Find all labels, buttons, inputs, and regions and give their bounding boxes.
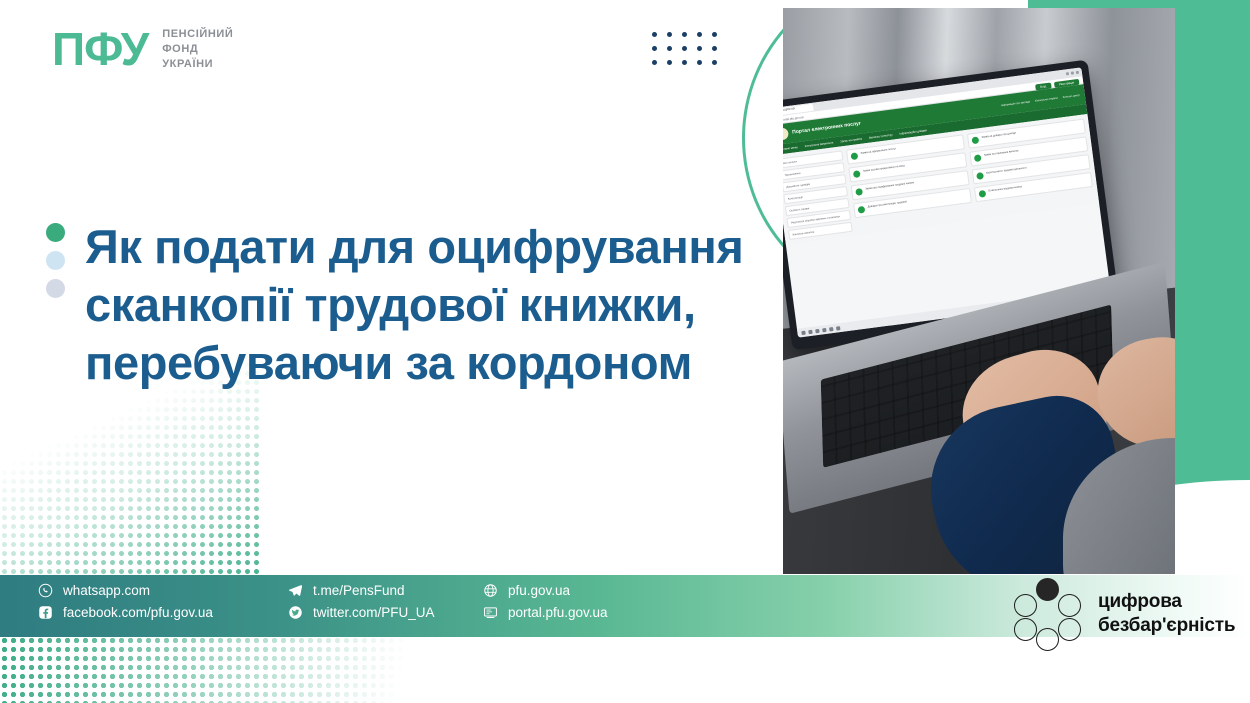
browser-window-controls (1066, 71, 1079, 76)
nav-item[interactable]: Запис на прийом (840, 137, 862, 144)
card-label: Довідка про реєстрацію трудової (867, 200, 907, 209)
card-bullet-icon (974, 154, 982, 162)
brand-logo[interactable]: ПФУ ПЕНСІЙНИЙ ФОНД УКРАЇНИ (52, 26, 233, 72)
bullet-lightblue-icon (46, 251, 65, 270)
card-bullet-icon (978, 190, 986, 198)
footer-link-twitter[interactable]: twitter.com/PFU_UA (288, 605, 483, 620)
card-bullet-icon (850, 152, 858, 160)
digital-accessibility-text: цифрова безбар'єрність (1098, 590, 1235, 638)
globe-icon (483, 583, 498, 598)
bullet-grayblue-icon (46, 279, 65, 298)
grid-dot (697, 32, 702, 37)
browser-icon[interactable] (822, 327, 826, 331)
footer-link-facebook[interactable]: facebook.com/pfu.gov.ua (38, 605, 288, 620)
app-icon[interactable] (836, 326, 840, 330)
minimize-icon[interactable] (1066, 72, 1069, 75)
brand-line-2: ФОНД (162, 42, 233, 57)
poster-canvas: ПФУ ПЕНСІЙНИЙ ФОНД УКРАЇНИ Як подати для… (0, 0, 1250, 703)
grid-dot (697, 60, 702, 65)
grid-dot (712, 46, 717, 51)
footer-link-label: pfu.gov.ua (508, 583, 570, 598)
footer-link-portal[interactable]: portal.pfu.gov.ua (483, 605, 683, 620)
dot-grid-decoration (652, 32, 727, 74)
footer-link-telegram[interactable]: t.me/PensFund (288, 583, 483, 598)
services-sidebar: Всі послуги Призначення Документи і дові… (783, 150, 853, 240)
digital-accessibility-mark (1012, 578, 1084, 650)
card-bullet-icon (971, 136, 979, 144)
card-label: Заява на отримання виписки (984, 149, 1019, 157)
grid-dot (712, 32, 717, 37)
whatsapp-icon (38, 583, 53, 598)
halftone-left (0, 360, 260, 590)
card-bullet-icon (855, 188, 863, 196)
card-label: Коротка витяг трудової діяльності (986, 166, 1027, 175)
grid-dot (697, 46, 702, 51)
mark-circle (1014, 618, 1037, 641)
mark-circle (1014, 594, 1037, 617)
grid-dot (682, 32, 687, 37)
brand-line-1: ПЕНСІЙНИЙ (162, 27, 233, 42)
card-label: Електронна трудова книжка (988, 185, 1022, 193)
folder-icon[interactable] (815, 328, 819, 332)
top-link[interactable]: Інформація про заклади (1001, 100, 1030, 107)
mark-circle (1036, 628, 1059, 651)
mark-circle (1058, 594, 1081, 617)
headline-block: Як подати для оцифрування сканкопії труд… (46, 218, 765, 392)
footer-links: whatsapp.com facebook.com/pfu.gov.ua t.m… (38, 583, 683, 620)
card-label: Заява на реєстрацію/зміну на місці (863, 164, 905, 173)
card-label: Заява на довідку про доходи (981, 131, 1016, 139)
grid-dot (652, 60, 657, 65)
top-link[interactable]: Контакт-центр (1063, 93, 1080, 98)
digital-line-2: безбар'єрність (1098, 614, 1235, 638)
portal-icon (483, 605, 498, 620)
brand-full-name: ПЕНСІЙНИЙ ФОНД УКРАЇНИ (162, 27, 233, 72)
grid-dot (652, 46, 657, 51)
halftone-bottom (0, 636, 420, 703)
maximize-icon[interactable] (1071, 71, 1074, 74)
telegram-icon (288, 583, 303, 598)
footer-link-label: portal.pfu.gov.ua (508, 605, 608, 620)
start-icon[interactable] (801, 330, 805, 334)
digital-accessibility-logo: цифрова безбар'єрність (1012, 578, 1235, 650)
card-label: Заява про оцифрування трудової книжки (865, 181, 914, 191)
card-column-right: Заява на довідку про доходи Заява на отр… (967, 118, 1095, 215)
grid-dot (652, 32, 657, 37)
footer-link-whatsapp[interactable]: whatsapp.com (38, 583, 288, 598)
brand-line-3: УКРАЇНИ (162, 57, 233, 72)
top-link[interactable]: Електронні сервіси (1035, 96, 1058, 102)
footer-link-label: twitter.com/PFU_UA (313, 605, 435, 620)
grid-dot (667, 60, 672, 65)
mark-circle-filled (1036, 578, 1059, 601)
card-bullet-icon (853, 170, 861, 178)
card-bullet-icon (976, 172, 984, 180)
hero-photo: portal.pfu.gov.ua https://portal.pfu.gov… (783, 8, 1175, 574)
digital-line-1: цифрова (1098, 590, 1235, 614)
mail-icon[interactable] (829, 327, 833, 331)
facebook-icon (38, 605, 53, 620)
site-top-links: Інформація про заклади Електронні сервіс… (1001, 93, 1080, 106)
footer-link-label: whatsapp.com (63, 583, 150, 598)
footer-column-3: pfu.gov.ua portal.pfu.gov.ua (483, 583, 683, 620)
grid-dot (682, 46, 687, 51)
laptop-device: portal.pfu.gov.ua https://portal.pfu.gov… (783, 60, 1120, 351)
mark-circle (1058, 618, 1081, 641)
grid-dot (682, 60, 687, 65)
footer-link-website[interactable]: pfu.gov.ua (483, 583, 683, 598)
card-label: Заява на оформлення послуг (860, 147, 896, 155)
pfu-logo-mark: ПФУ (52, 26, 148, 72)
footer-link-label: facebook.com/pfu.gov.ua (63, 605, 213, 620)
footer-column-1: whatsapp.com facebook.com/pfu.gov.ua (38, 583, 288, 620)
card-column-left: Заява на оформлення послуг Заява на реєс… (846, 134, 974, 231)
nav-item[interactable]: Головне меню (783, 145, 798, 151)
headline-bullets (46, 218, 65, 392)
nav-item[interactable]: Виписка з реєстру (869, 133, 893, 140)
grid-dot (667, 46, 672, 51)
grid-dot (712, 60, 717, 65)
footer-column-2: t.me/PensFund twitter.com/PFU_UA (288, 583, 483, 620)
bullet-green-icon (46, 223, 65, 242)
close-icon[interactable] (1076, 71, 1079, 74)
emblem-icon (783, 127, 789, 140)
twitter-icon (288, 605, 303, 620)
search-icon[interactable] (808, 329, 812, 333)
card-bullet-icon (858, 206, 866, 214)
site-title: Портал електронних послуг (792, 121, 861, 136)
footer-link-label: t.me/PensFund (313, 583, 405, 598)
page-title: Як подати для оцифрування сканкопії труд… (85, 218, 765, 392)
grid-dot (667, 32, 672, 37)
